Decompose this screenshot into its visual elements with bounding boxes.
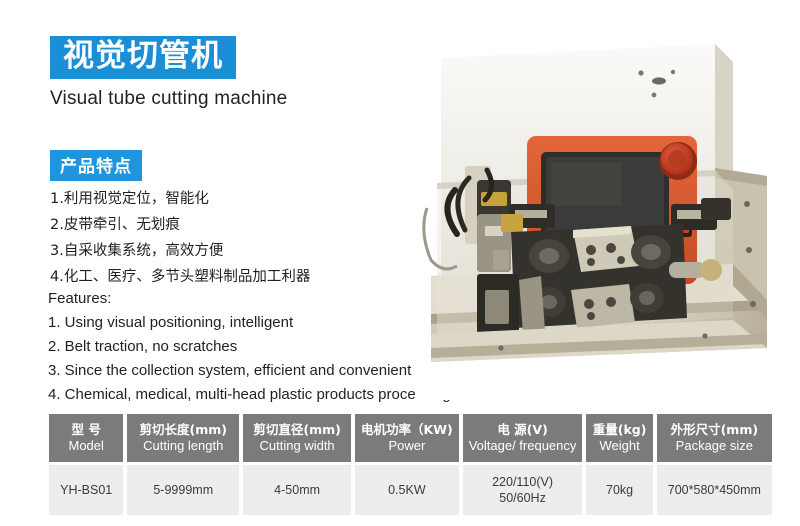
cell-value: 4-50mm — [274, 482, 320, 498]
feature-item-cn: 3.自采收集系统，高效方便 — [50, 238, 430, 264]
feature-item-cn: 2.皮带牵引、无划痕 — [50, 212, 430, 238]
table-header-cell-voltage: 电 源(V) Voltage/ frequency — [463, 414, 583, 462]
header-cn: 剪切直径(mm) — [253, 422, 340, 438]
header-en: Model — [68, 438, 103, 454]
header-en: Cutting length — [143, 438, 223, 454]
table-header-cell-model: 型 号 Model — [49, 414, 123, 462]
machine-photo — [415, 18, 787, 400]
table-cell-package-size: 700*580*450mm — [657, 465, 772, 515]
product-title-cn: 视觉切管机 — [63, 38, 223, 74]
table-header-cell-package-size: 外形尺寸(mm) Package size — [657, 414, 772, 462]
table-header-cell-cutting-width: 剪切直径(mm) Cutting width — [243, 414, 351, 462]
table-cell-cutting-width: 4-50mm — [243, 465, 351, 515]
cell-value: 70kg — [606, 482, 633, 498]
table-cell-model: YH-BS01 — [49, 465, 123, 515]
features-heading-en: Features: — [48, 290, 111, 307]
table-cell-cutting-length: 5-9999mm — [127, 465, 239, 515]
header-en: Power — [388, 438, 425, 454]
features-list-cn: 1.利用视觉定位，智能化 2.皮带牵引、无划痕 3.自采收集系统，高效方便 4.… — [50, 186, 430, 290]
cell-value: 0.5KW — [388, 482, 426, 498]
cell-value: 5-9999mm — [153, 482, 213, 498]
header-en: Voltage/ frequency — [469, 438, 577, 454]
header-cn: 外形尺寸(mm) — [671, 422, 758, 438]
feature-item-cn: 4.化工、医疗、多节头塑料制品加工利器 — [50, 264, 430, 290]
header-cn: 电机功率（KW) — [361, 422, 453, 438]
table-header-row: 型 号 Model 剪切长度(mm) Cutting length 剪切直径(m… — [49, 414, 772, 462]
product-spec-page: 视觉切管机 Visual tube cutting machine 产品特点 1… — [0, 0, 800, 526]
header-en: Cutting width — [260, 438, 335, 454]
header-cn: 型 号 — [72, 422, 101, 438]
cell-value-secondary: 50/60Hz — [499, 490, 546, 506]
product-title-en: Visual tube cutting machine — [50, 88, 287, 110]
specification-table: 型 号 Model 剪切长度(mm) Cutting length 剪切直径(m… — [49, 414, 772, 515]
table-cell-weight: 70kg — [586, 465, 652, 515]
product-title-banner: 视觉切管机 — [50, 36, 236, 79]
table-cell-voltage: 220/110(V) 50/60Hz — [463, 465, 583, 515]
table-header-cell-power: 电机功率（KW) Power — [355, 414, 459, 462]
header-cn: 电 源(V) — [497, 422, 547, 438]
features-badge-label: 产品特点 — [60, 157, 132, 177]
table-cell-power: 0.5KW — [355, 465, 459, 515]
feature-item-cn: 1.利用视觉定位，智能化 — [50, 186, 430, 212]
header-en: Package size — [676, 438, 753, 454]
table-header-cell-weight: 重量(kg) Weight — [586, 414, 652, 462]
cell-value: 220/110(V) — [492, 474, 553, 490]
table-row: YH-BS01 5-9999mm 4-50mm 0.5KW 220/110(V)… — [49, 465, 772, 515]
cell-value: 700*580*450mm — [668, 482, 761, 498]
header-cn: 剪切长度(mm) — [139, 422, 226, 438]
table-header-cell-cutting-length: 剪切长度(mm) Cutting length — [127, 414, 239, 462]
features-badge: 产品特点 — [50, 150, 142, 181]
header-en: Weight — [599, 438, 639, 454]
header-cn: 重量(kg) — [593, 422, 647, 438]
cell-value: YH-BS01 — [60, 482, 112, 498]
